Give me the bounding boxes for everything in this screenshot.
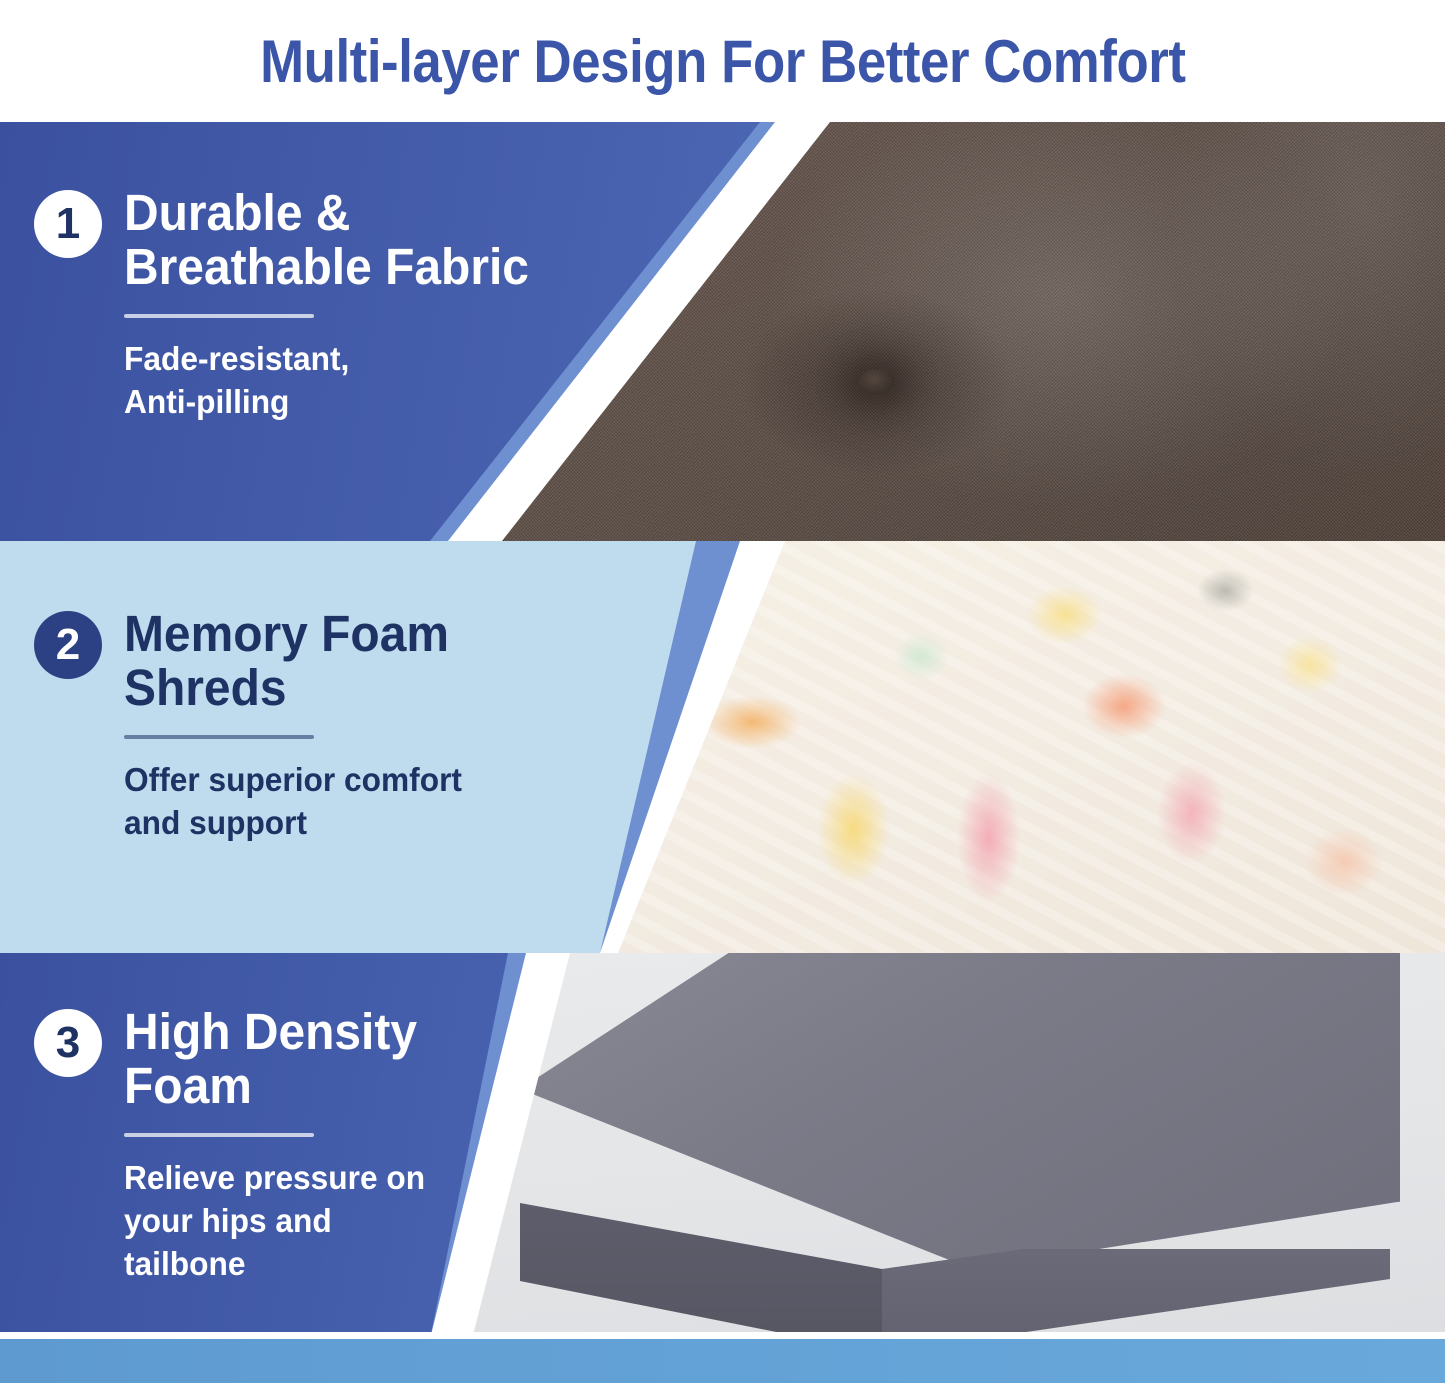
page-title: Multi-layer Design For Better Comfort	[260, 27, 1185, 96]
feature-panel-3: 3 High Density Foam Relieve pressure on …	[0, 953, 1445, 1339]
fabric-tuft-button	[859, 369, 895, 395]
panel-3-heading: High Density Foam	[124, 1005, 417, 1113]
panel-3-content: 3 High Density Foam Relieve pressure on …	[0, 953, 438, 1339]
feature-panel-2: 2 Memory Foam Shreds Offer superior comf…	[0, 541, 1445, 953]
panel-2-heading-row: 2 Memory Foam Shreds	[34, 607, 476, 715]
title-bar: Multi-layer Design For Better Comfort	[0, 0, 1445, 122]
panel-1-content: 1 Durable & Breathable Fabric Fade-resis…	[0, 122, 555, 541]
panel-2-content: 2 Memory Foam Shreds Offer superior comf…	[0, 541, 476, 953]
panel-1-subtext: Fade-resistant, Anti-pilling	[124, 338, 538, 424]
panel-3-photo-foam-block	[430, 953, 1445, 1339]
step-badge-3: 3	[34, 1009, 102, 1077]
step-badge-2: 2	[34, 611, 102, 679]
panel-3-divider	[124, 1133, 314, 1137]
panel-1-divider	[124, 314, 314, 318]
panel-1-heading: Durable & Breathable Fabric	[124, 186, 529, 294]
panel-1-heading-row: 1 Durable & Breathable Fabric	[34, 186, 555, 294]
panel-2-divider	[124, 735, 314, 739]
feature-panel-1: 1 Durable & Breathable Fabric Fade-resis…	[0, 122, 1445, 541]
panel-2-subtext: Offer superior comfort and support	[124, 759, 462, 845]
step-badge-1: 1	[34, 190, 102, 258]
panel-2-heading: Memory Foam Shreds	[124, 607, 449, 715]
panel-3-subtext: Relieve pressure on your hips and tailbo…	[124, 1157, 425, 1286]
footer-strip	[0, 1339, 1445, 1383]
panel-3-heading-row: 3 High Density Foam	[34, 1005, 438, 1113]
